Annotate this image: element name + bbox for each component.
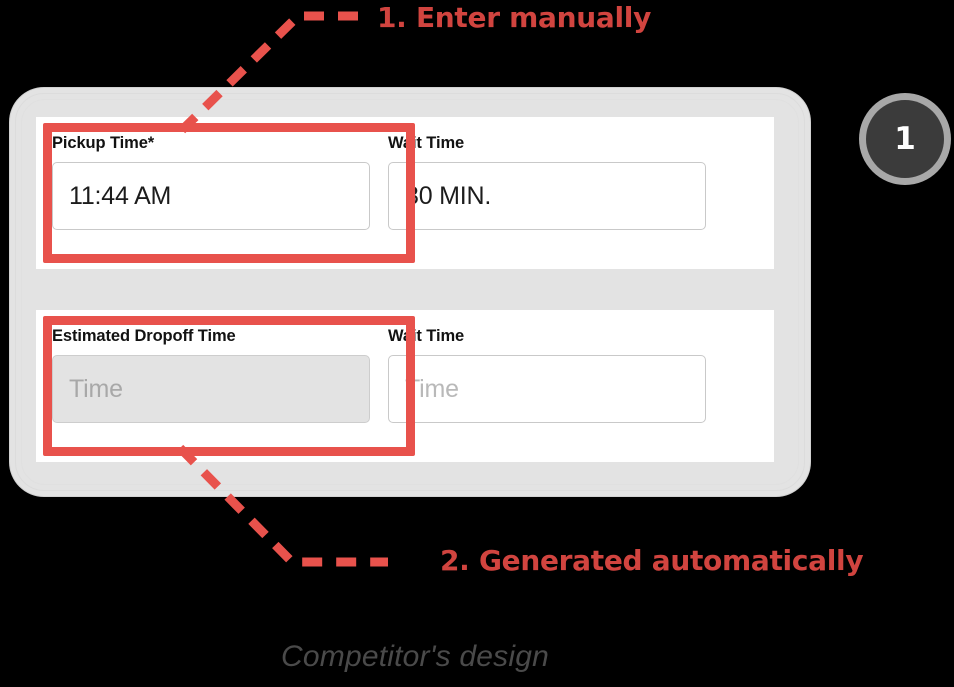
callout-enter-manually: 1. Enter manually (377, 1, 651, 34)
callout-generated-automatically: 2. Generated automatically (440, 544, 863, 577)
field-group-wait-time-2: Wait Time Time (388, 327, 706, 446)
wait-time-label-1: Wait Time (388, 134, 706, 153)
step-badge-number: 1 (894, 124, 916, 155)
wait-time-input-1[interactable]: 30 MIN. (388, 162, 706, 230)
wait-time-label-2: Wait Time (388, 327, 706, 346)
pickup-time-card: Pickup Time* 11:44 AM Wait Time 30 MIN. (36, 117, 774, 269)
estimated-dropoff-time-label: Estimated Dropoff Time (52, 327, 370, 346)
estimated-dropoff-time-input: Time (52, 355, 370, 423)
pickup-time-input[interactable]: 11:44 AM (52, 162, 370, 230)
wait-time-input-2[interactable]: Time (388, 355, 706, 423)
pickup-time-label: Pickup Time* (52, 134, 370, 153)
step-badge: 1 (866, 100, 944, 178)
form-container: Pickup Time* 11:44 AM Wait Time 30 MIN. … (10, 88, 810, 496)
field-group-pickup-time: Pickup Time* 11:44 AM (52, 134, 370, 253)
dropoff-time-card: Estimated Dropoff Time Time Wait Time Ti… (36, 310, 774, 462)
caption-competitors-design: Competitor's design (0, 640, 830, 674)
field-group-estimated-dropoff-time: Estimated Dropoff Time Time (52, 327, 370, 446)
field-group-wait-time-1: Wait Time 30 MIN. (388, 134, 706, 253)
